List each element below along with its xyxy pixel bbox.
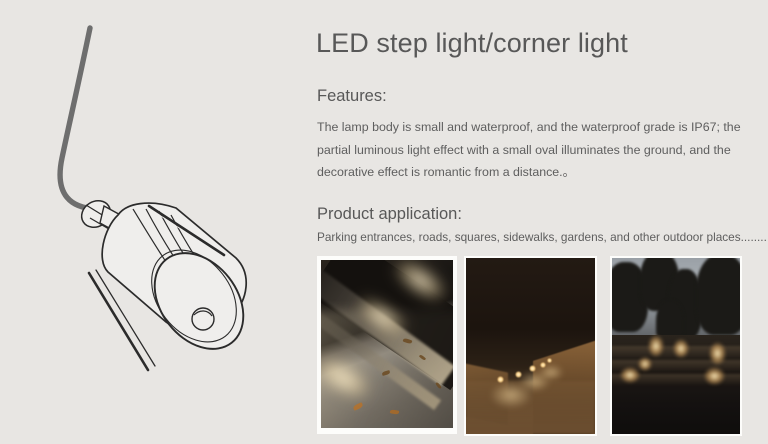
application-photo-gallery [0,0,768,444]
product-page: LED step light/corner light Features: Th… [0,0,768,444]
application-photo-3-image [612,258,740,434]
application-photo-3[interactable] [610,256,742,436]
application-photo-1[interactable] [317,256,457,434]
application-photo-1-image [321,260,453,428]
application-photo-2[interactable] [464,256,597,436]
application-photo-2-image [466,258,595,434]
